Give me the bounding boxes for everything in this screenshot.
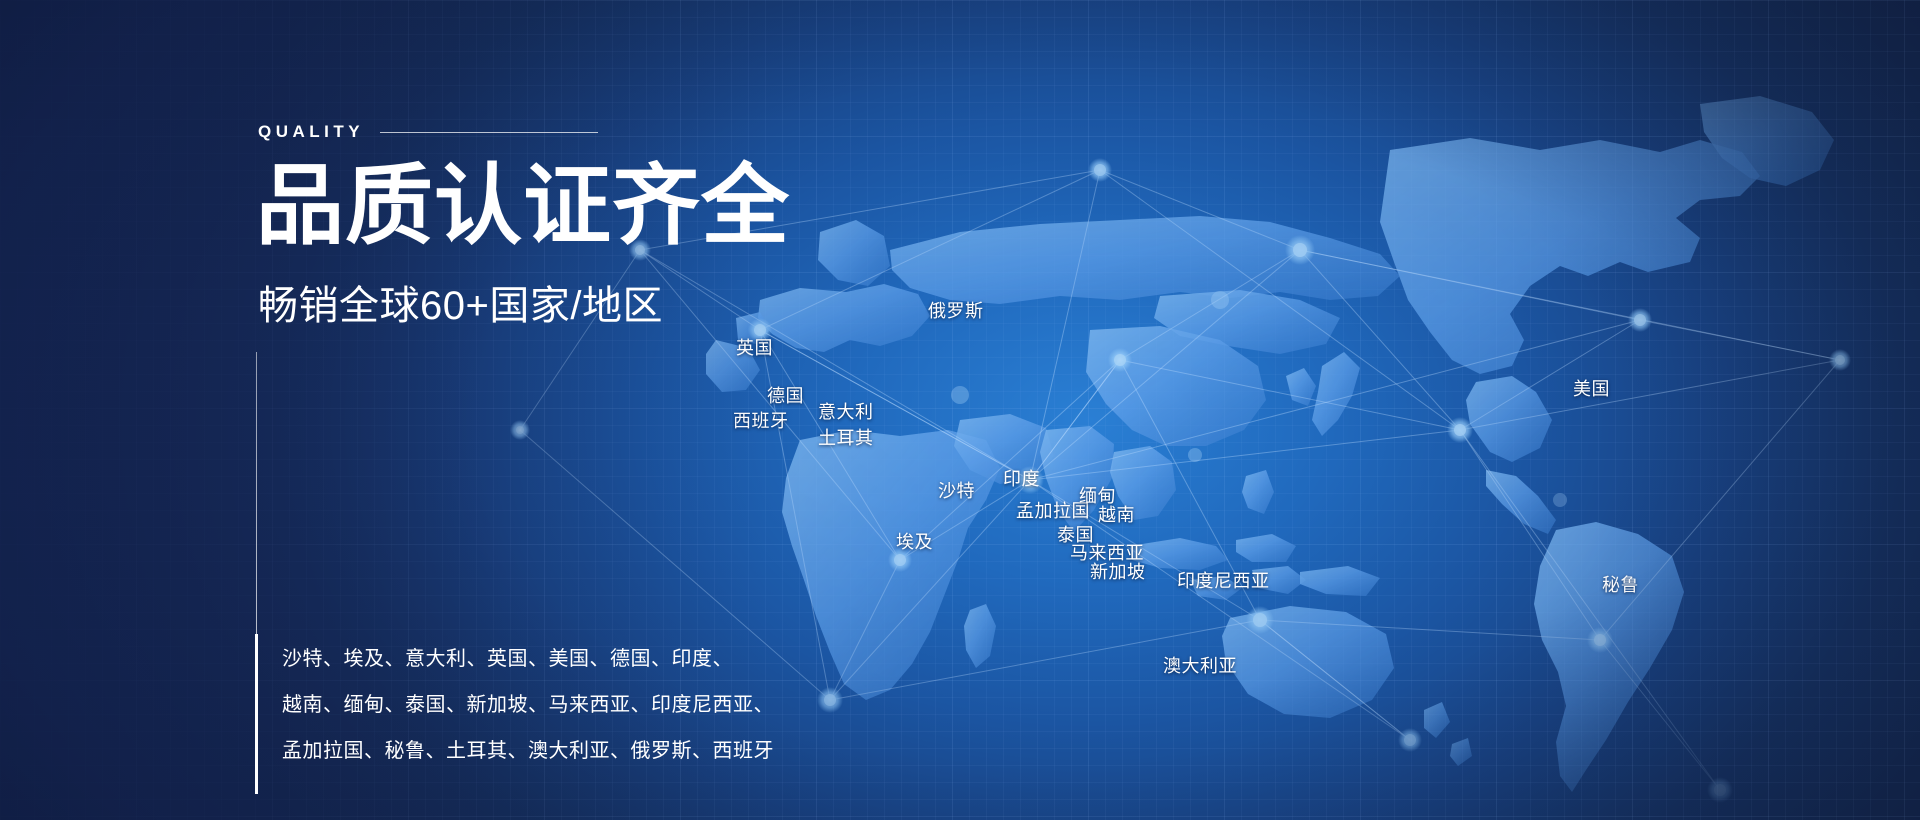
vertical-divider-accent <box>255 634 258 794</box>
eyebrow-label: QUALITY <box>258 122 364 142</box>
quality-banner: 英国德国西班牙意大利土耳其俄罗斯美国沙特印度埃及孟加拉国缅甸越南泰国马来西亚新加… <box>0 0 1920 820</box>
banner-content: QUALITY 品质认证齐全 畅销全球60+国家/地区 沙特、埃及、意大利、英国… <box>258 0 898 820</box>
country-list-line: 沙特、埃及、意大利、英国、美国、德国、印度、 <box>282 636 842 682</box>
country-list-line: 孟加拉国、秘鲁、土耳其、澳大利亚、俄罗斯、西班牙 <box>282 728 842 774</box>
eyebrow-rule <box>380 132 598 133</box>
page-title: 品质认证齐全 <box>256 158 790 255</box>
eyebrow-row: QUALITY <box>258 122 598 142</box>
page-subtitle: 畅销全球60+国家/地区 <box>258 282 663 330</box>
country-list-line: 越南、缅甸、泰国、新加坡、马来西亚、印度尼西亚、 <box>282 682 842 728</box>
country-list: 沙特、埃及、意大利、英国、美国、德国、印度、越南、缅甸、泰国、新加坡、马来西亚、… <box>282 636 842 774</box>
vertical-divider <box>256 352 257 634</box>
